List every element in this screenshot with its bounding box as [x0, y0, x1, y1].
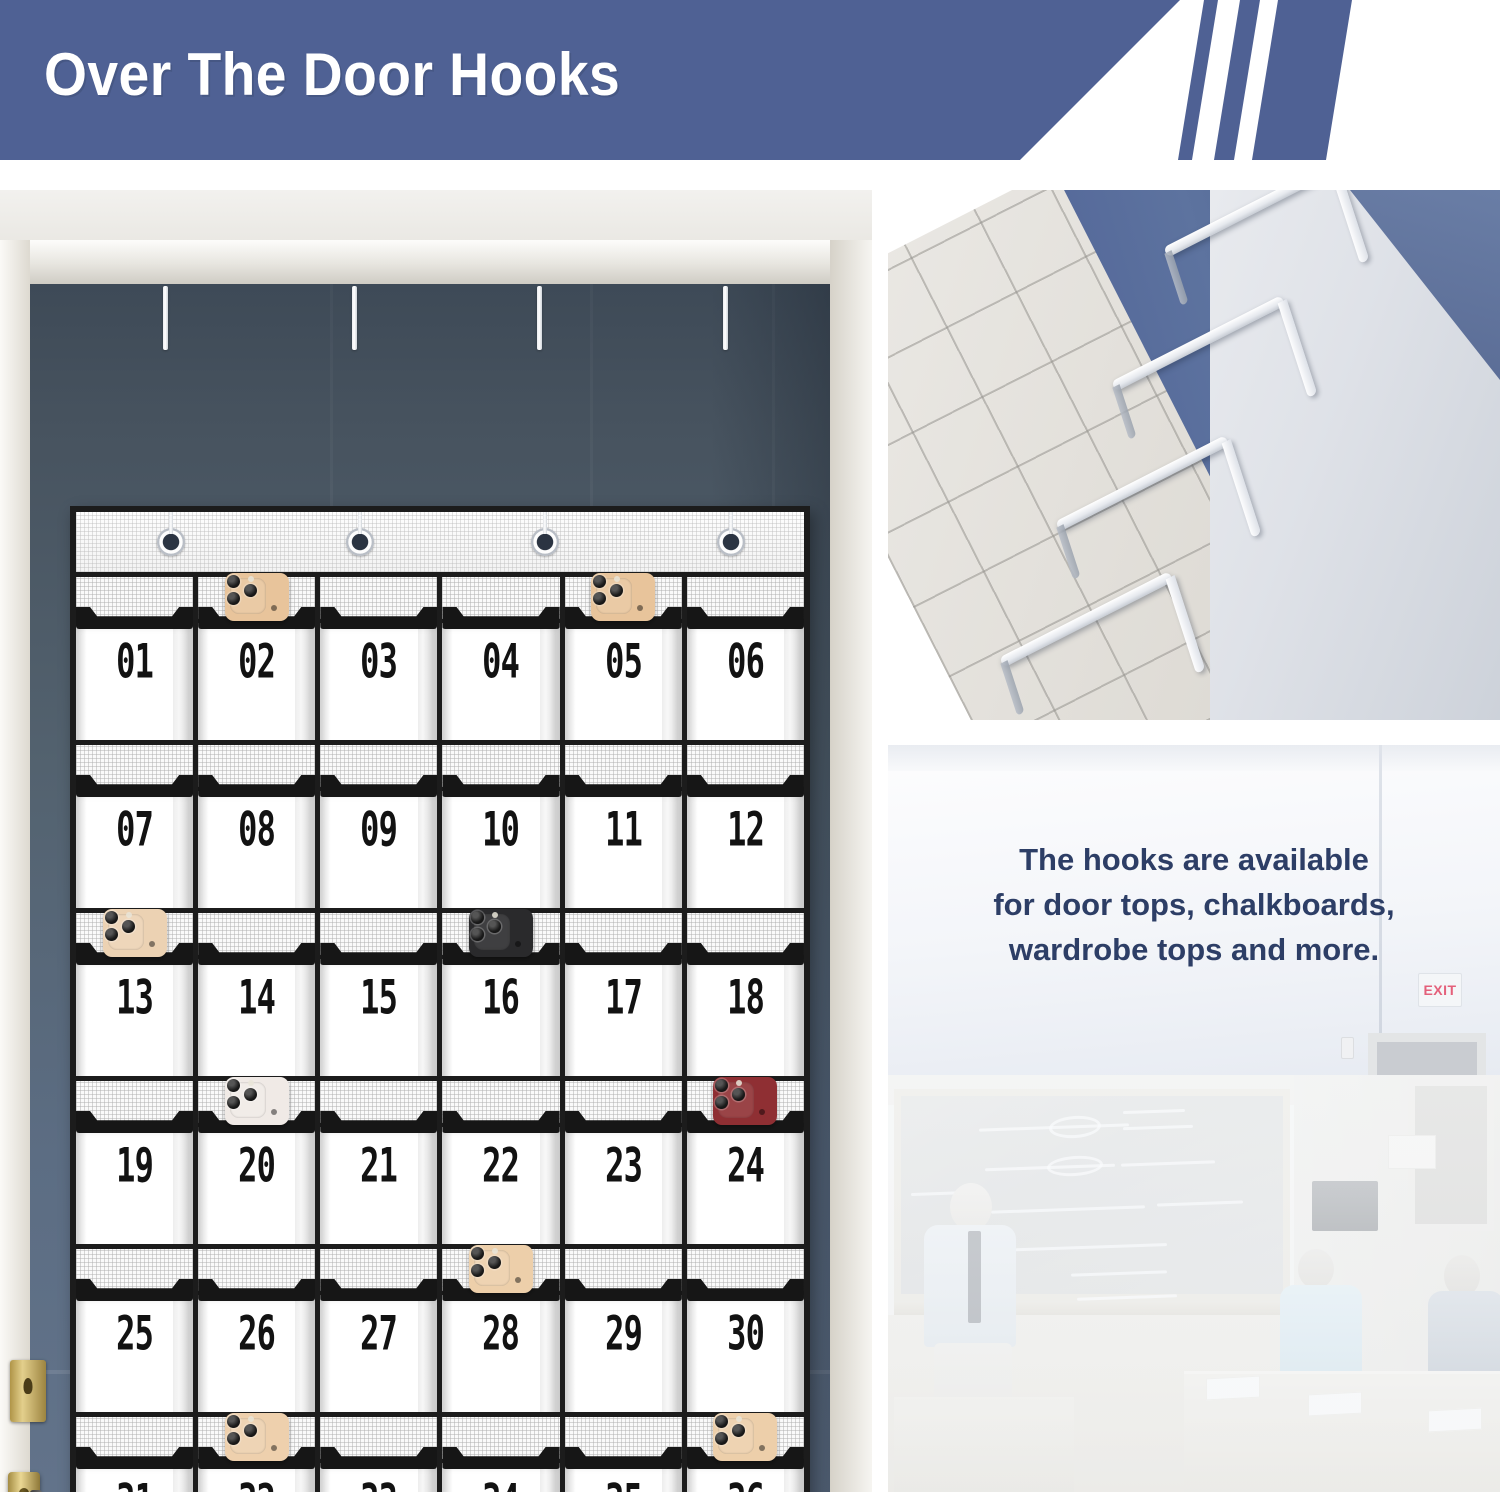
door-frame-right: [830, 240, 872, 1492]
pocket-number-label: 35: [576, 1475, 670, 1492]
pocket-10[interactable]: 10: [442, 745, 559, 908]
smartphone-in-pocket: [713, 1077, 777, 1125]
pocket-23[interactable]: 23: [565, 1081, 682, 1244]
pocket-number-label: 34: [454, 1475, 548, 1492]
pocket-22[interactable]: 22: [442, 1081, 559, 1244]
name-card: [1428, 1408, 1482, 1433]
pocket-09[interactable]: 09: [320, 745, 437, 908]
door-frame-left: [0, 240, 30, 1492]
banner-stripe-2: [1214, 0, 1260, 160]
pocket-28[interactable]: 28: [442, 1249, 559, 1412]
pocket-27[interactable]: 27: [320, 1249, 437, 1412]
pocket-21[interactable]: 21: [320, 1081, 437, 1244]
banner-title: Over The Door Hooks: [44, 40, 620, 109]
pocket-chart-organizer: 0102030405060708091011121314151617181920…: [70, 506, 810, 1492]
pocket-number-label: 20: [210, 1139, 304, 1193]
keyhole-icon: [24, 1378, 33, 1394]
pocket-number-label: 33: [332, 1475, 426, 1492]
grommet: [346, 528, 374, 556]
pocket-number-label: 08: [210, 803, 304, 857]
name-card: [1206, 1376, 1260, 1401]
pocket-number-label: 24: [699, 1139, 793, 1193]
pocket-number-label: 03: [332, 635, 426, 689]
banner-stripe-1: [1178, 0, 1218, 160]
pocket-number-label: 27: [332, 1307, 426, 1361]
pocket-number-label: 32: [210, 1475, 304, 1492]
smartphone-in-pocket: [103, 909, 167, 957]
pocket-34[interactable]: 34: [442, 1417, 559, 1492]
pocket-number-label: 21: [332, 1139, 426, 1193]
pocket-number-label: 25: [88, 1307, 182, 1361]
pocket-number-label: 09: [332, 803, 426, 857]
pocket-number-label: 16: [454, 971, 548, 1025]
pocket-number-label: 18: [699, 971, 793, 1025]
pocket-19[interactable]: 19: [76, 1081, 193, 1244]
wall-poster: [1388, 1135, 1436, 1169]
door-handle-base: [8, 1472, 40, 1492]
promo-line-2: for door tops, chalkboards,: [888, 882, 1500, 927]
pocket-15[interactable]: 15: [320, 913, 437, 1076]
pocket-32[interactable]: 32: [198, 1417, 315, 1492]
pocket-33[interactable]: 33: [320, 1417, 437, 1492]
pocket-number-label: 15: [332, 971, 426, 1025]
promo-line-1: The hooks are available: [888, 837, 1500, 882]
promo-line-3: wardrobe tops and more.: [888, 927, 1500, 972]
pocket-number-label: 36: [699, 1475, 793, 1492]
exit-sign-label: EXIT: [1423, 982, 1456, 998]
pocket-17[interactable]: 17: [565, 913, 682, 1076]
pocket-number-label: 17: [576, 971, 670, 1025]
pocket-number-label: 05: [576, 635, 670, 689]
chart-header-band: [76, 512, 804, 572]
pocket-14[interactable]: 14: [198, 913, 315, 1076]
pocket-25[interactable]: 25: [76, 1249, 193, 1412]
pocket-29[interactable]: 29: [565, 1249, 682, 1412]
pocket-05[interactable]: 05: [565, 577, 682, 740]
pocket-35[interactable]: 35: [565, 1417, 682, 1492]
pocket-number-label: 23: [576, 1139, 670, 1193]
pocket-06[interactable]: 06: [687, 577, 804, 740]
pocket-number-label: 19: [88, 1139, 182, 1193]
lectern: [894, 1397, 1074, 1492]
pocket-number-label: 29: [576, 1307, 670, 1361]
classroom-photo: [888, 1075, 1500, 1492]
pocket-number-label: 10: [454, 803, 548, 857]
smartphone-in-pocket: [591, 573, 655, 621]
exit-sign: EXIT: [1418, 973, 1462, 1007]
promo-usage-panel: EXIT The hooks are available for door to…: [888, 745, 1500, 1492]
pocket-number-label: 31: [88, 1475, 182, 1492]
pocket-16[interactable]: 16: [442, 913, 559, 1076]
smartphone-in-pocket: [225, 573, 289, 621]
door-hook-stem: [163, 286, 168, 350]
pocket-18[interactable]: 18: [687, 913, 804, 1076]
door-hook-stem: [537, 286, 542, 350]
grommet: [717, 528, 745, 556]
pocket-number-label: 13: [88, 971, 182, 1025]
thermostat-icon: [1341, 1037, 1354, 1059]
pocket-number-label: 12: [699, 803, 793, 857]
pocket-07[interactable]: 07: [76, 745, 193, 908]
pocket-grid: 0102030405060708091011121314151617181920…: [76, 572, 804, 1492]
pocket-26[interactable]: 26: [198, 1249, 315, 1412]
pocket-number-label: 11: [576, 803, 670, 857]
pocket-13[interactable]: 13: [76, 913, 193, 1076]
pocket-number-label: 30: [699, 1307, 793, 1361]
door-hook-stem: [723, 286, 728, 350]
pocket-01[interactable]: 01: [76, 577, 193, 740]
pocket-20[interactable]: 20: [198, 1081, 315, 1244]
pocket-number-label: 02: [210, 635, 304, 689]
header-banner: Over The Door Hooks: [0, 0, 1500, 160]
pocket-number-label: 28: [454, 1307, 548, 1361]
door-frame-top: [0, 240, 872, 286]
pocket-31[interactable]: 31: [76, 1417, 193, 1492]
pocket-04[interactable]: 04: [442, 577, 559, 740]
pocket-number-label: 26: [210, 1307, 304, 1361]
pocket-number-label: 14: [210, 971, 304, 1025]
pocket-12[interactable]: 12: [687, 745, 804, 908]
grommet: [157, 528, 185, 556]
door-hook-stem: [352, 286, 357, 350]
hook-detail-photo: [888, 190, 1500, 720]
pocket-number-label: 22: [454, 1139, 548, 1193]
pocket-number-label: 01: [88, 635, 182, 689]
pocket-03[interactable]: 03: [320, 577, 437, 740]
promo-headline: The hooks are available for door tops, c…: [888, 837, 1500, 972]
pocket-02[interactable]: 02: [198, 577, 315, 740]
pocket-11[interactable]: 11: [565, 745, 682, 908]
pocket-08[interactable]: 08: [198, 745, 315, 908]
grommet: [531, 528, 559, 556]
smartphone-in-pocket: [713, 1413, 777, 1461]
pocket-number-label: 07: [88, 803, 182, 857]
back-wall: [1210, 190, 1500, 720]
banner-stripe-3: [1252, 0, 1352, 160]
door-lock-plate: [10, 1360, 46, 1422]
monitor-icon: [1312, 1181, 1378, 1231]
smartphone-in-pocket: [225, 1413, 289, 1461]
name-card: [1308, 1392, 1362, 1417]
smartphone-in-pocket: [469, 909, 533, 957]
smartphone-in-pocket: [469, 1245, 533, 1293]
pocket-24[interactable]: 24: [687, 1081, 804, 1244]
main-product-photo: 0102030405060708091011121314151617181920…: [0, 190, 872, 1492]
pocket-30[interactable]: 30: [687, 1249, 804, 1412]
pocket-number-label: 06: [699, 635, 793, 689]
pocket-36[interactable]: 36: [687, 1417, 804, 1492]
pocket-number-label: 04: [454, 635, 548, 689]
smartphone-in-pocket: [225, 1077, 289, 1125]
